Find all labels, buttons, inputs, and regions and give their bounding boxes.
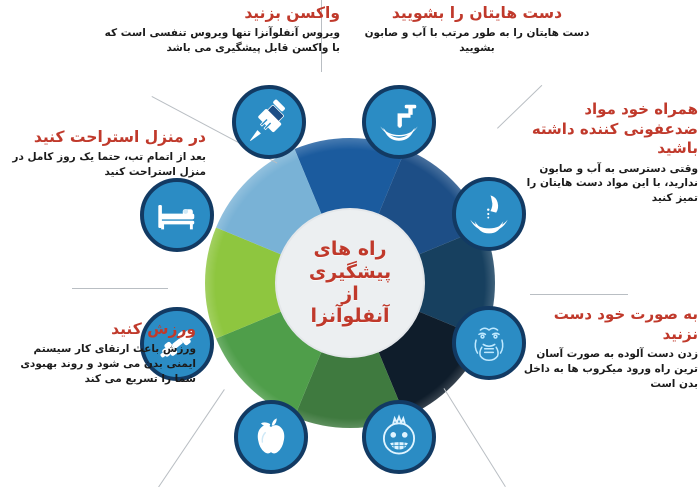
tip-block-dont-touch-face: به صورت خود دست نزنید زدن دست آلوده به ص…: [520, 305, 698, 392]
tip-heading-dont-touch-face: به صورت خود دست نزنید: [520, 305, 698, 344]
syringe-icon: [246, 99, 292, 145]
hub-title-line-1: راه های: [314, 238, 387, 260]
faucet-handwash-icon-bubble[interactable]: [362, 85, 436, 159]
tip-body-vaccine: ویروس آنفلوآنزا تنها ویروس تنفسی است که …: [95, 26, 340, 56]
tip-body-wash-hands: دست هایتان را به طور مرتب با آب و صابون …: [352, 26, 602, 56]
tip-heading-rest-at-home: در منزل استراحت کنید: [6, 128, 206, 147]
leader-line-exercise: [72, 288, 168, 289]
hub-title-line-4: آنفلوآنزا: [311, 305, 390, 327]
tip-body-exercise: ورزش باعث ارتقای کار سیستم ایمنی بدن می …: [4, 342, 196, 387]
tip-block-vaccine: واکسن بزنید ویروس آنفلوآنزا تنها ویروس ت…: [95, 4, 340, 56]
syringe-icon-bubble[interactable]: [232, 85, 306, 159]
tip-body-sanitizer: وقتی دسترسی به آب و صابون ندارید، با این…: [512, 162, 698, 207]
tip-block-rest-at-home: در منزل استراحت کنید بعد از اتمام تب، حت…: [6, 128, 206, 180]
influenza-prevention-infographic: راه های پیشگیری از آنفلوآنزا: [0, 0, 700, 487]
happy-child-icon-bubble[interactable]: [362, 400, 436, 474]
tip-heading-wash-hands: دست هایتان را بشویید: [352, 4, 602, 23]
happy-child-icon: [376, 414, 422, 460]
apple-icon: [248, 414, 294, 460]
tip-heading-vaccine: واکسن بزنید: [95, 4, 340, 23]
hub-title-line-3: از: [341, 283, 358, 305]
prevention-wheel: راه های پیشگیری از آنفلوآنزا: [205, 138, 495, 428]
face-touch-icon-bubble[interactable]: [452, 306, 526, 380]
tip-block-sanitizer: همراه خود مواد ضدعفونی کننده داشته باشید…: [512, 100, 698, 206]
tip-body-rest-at-home: بعد از اتمام تب، حتما یک روز کامل در منز…: [6, 150, 206, 180]
hand-sanitizer-icon: [466, 191, 512, 237]
bed-icon-bubble[interactable]: [140, 178, 214, 252]
apple-icon-bubble[interactable]: [234, 400, 308, 474]
tip-heading-exercise: ورزش کنید: [4, 320, 196, 339]
leader-line-apple: [158, 389, 225, 487]
faucet-handwash-icon: [376, 99, 422, 145]
tip-block-wash-hands: دست هایتان را بشویید دست هایتان را به طو…: [352, 4, 602, 56]
tip-heading-sanitizer: همراه خود مواد ضدعفونی کننده داشته باشید: [512, 100, 698, 159]
tip-block-exercise: ورزش کنید ورزش باعث ارتقای کار سیستم ایم…: [4, 320, 196, 387]
face-touch-icon: [466, 320, 512, 366]
leader-line-face: [530, 294, 628, 295]
wheel-hub-title: راه های پیشگیری از آنفلوآنزا: [277, 210, 423, 356]
hub-title-line-2: پیشگیری: [309, 261, 391, 283]
bed-icon: [154, 192, 200, 238]
tip-body-dont-touch-face: زدن دست آلوده به صورت آسان ترین راه ورود…: [520, 347, 698, 392]
